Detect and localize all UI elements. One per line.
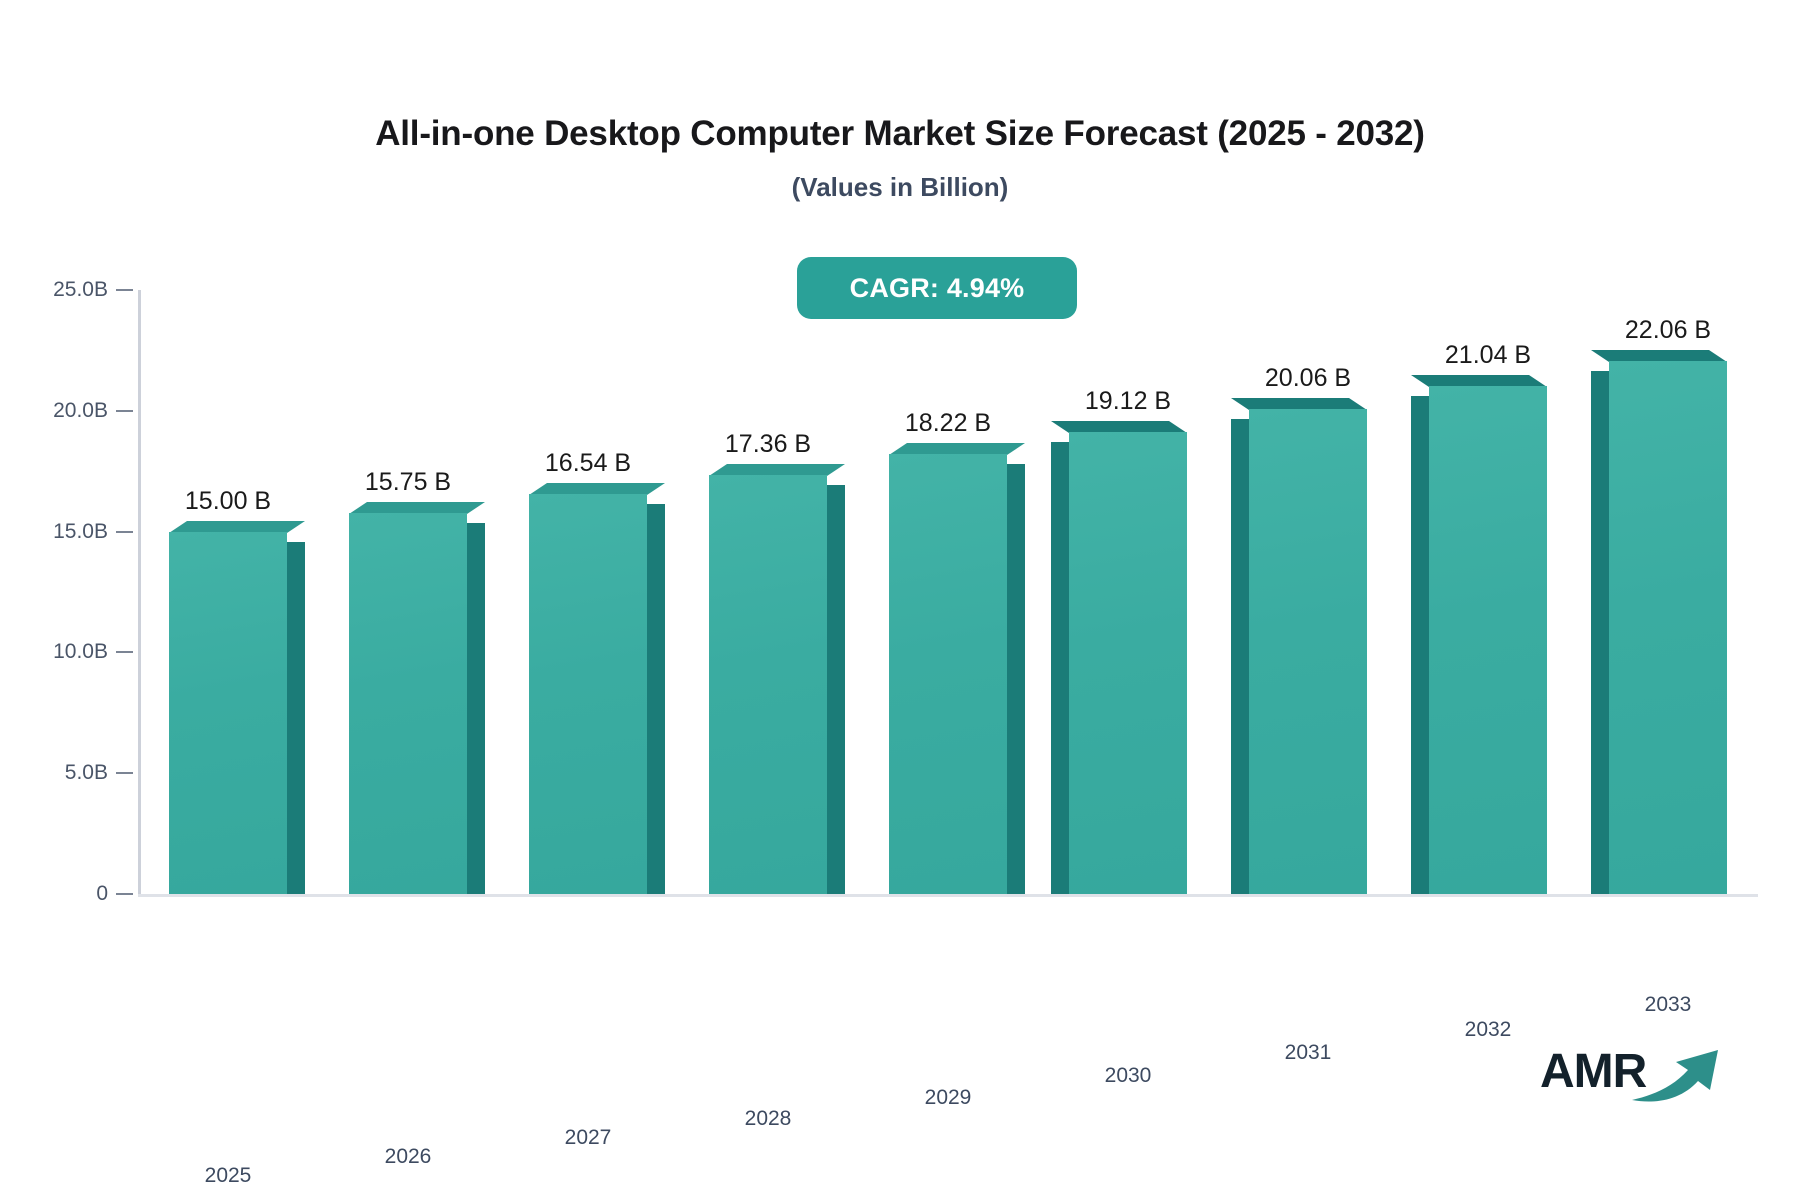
bar-front-face <box>1429 386 1547 894</box>
bar-side-panel <box>1007 464 1025 894</box>
bar-front-face <box>1249 409 1367 894</box>
bar-front-face <box>169 532 287 894</box>
bar-side-panel <box>647 504 665 894</box>
bar-front-face <box>709 475 827 894</box>
y-axis-tick-mark <box>116 651 133 653</box>
y-axis-tick-mark <box>116 893 133 895</box>
bar-value-label: 16.54 B <box>545 449 631 478</box>
bar-side-panel <box>1411 396 1429 894</box>
cagr-badge: CAGR: 4.94% <box>797 257 1077 319</box>
bar-side-panel <box>1231 419 1249 894</box>
bar-value-label: 21.04 B <box>1445 341 1531 370</box>
bar-value-label: 22.06 B <box>1625 316 1711 345</box>
y-axis-tick-label: 5.0B <box>16 761 108 785</box>
y-axis-tick-mark <box>116 410 133 412</box>
x-axis-tick-label: 2031 <box>1285 1041 1332 1065</box>
y-axis-tick-mark <box>116 772 133 774</box>
y-axis-tick-label: 20.0B <box>16 399 108 423</box>
amr-logo: AMR <box>1540 1040 1730 1110</box>
bar-side-panel <box>287 542 305 894</box>
bar-value-label: 17.36 B <box>725 430 811 459</box>
chart-title: All-in-one Desktop Computer Market Size … <box>0 114 1800 154</box>
bar-side-panel <box>467 523 485 894</box>
bar-value-label: 15.00 B <box>185 487 271 516</box>
x-axis-tick-label: 2032 <box>1465 1018 1512 1042</box>
x-axis-tick-label: 2028 <box>745 1107 792 1131</box>
bar-front-face <box>1069 432 1187 894</box>
bar: 17.36 B2028 <box>709 475 827 894</box>
bar: 15.75 B2026 <box>349 513 467 894</box>
y-axis-tick-label: 10.0B <box>16 640 108 664</box>
x-axis-tick-label: 2029 <box>925 1086 972 1110</box>
y-axis-tick-label: 0 <box>16 882 108 906</box>
x-axis-tick-label: 2030 <box>1105 1064 1152 1088</box>
y-axis-tick-label: 15.0B <box>16 520 108 544</box>
bar-side-panel <box>1591 371 1609 894</box>
bar-value-label: 18.22 B <box>905 409 991 438</box>
bar-front-face <box>349 513 467 894</box>
bar-side-panel <box>1051 442 1069 894</box>
bar-value-label: 20.06 B <box>1265 364 1351 393</box>
bar-front-face <box>1609 361 1727 894</box>
bar: 19.12 B2030 <box>1069 432 1187 894</box>
y-axis-tick-mark <box>116 531 133 533</box>
bar: 22.06 B2033 <box>1609 361 1727 894</box>
bar: 20.06 B2031 <box>1249 409 1367 894</box>
bar: 18.22 B2029 <box>889 454 1007 894</box>
chart-canvas: All-in-one Desktop Computer Market Size … <box>0 0 1800 1156</box>
x-axis-line <box>138 894 1758 897</box>
y-axis-line <box>138 290 141 897</box>
chart-subtitle: (Values in Billion) <box>0 172 1800 203</box>
x-axis-tick-label: 2026 <box>385 1145 432 1169</box>
bar: 15.00 B2025 <box>169 532 287 894</box>
y-axis-tick-mark <box>116 289 133 291</box>
bar-front-face <box>529 494 647 894</box>
plot-area: 25.0B20.0B15.0B10.0B5.0B0 15.00 B202515.… <box>138 290 1758 897</box>
bar: 16.54 B2027 <box>529 494 647 894</box>
bar-value-label: 15.75 B <box>365 468 451 497</box>
x-axis-tick-label: 2025 <box>205 1164 252 1188</box>
growth-arrow-icon <box>1630 1044 1725 1106</box>
bar-side-panel <box>827 485 845 894</box>
y-axis-tick-label: 25.0B <box>16 278 108 302</box>
bar-value-label: 19.12 B <box>1085 387 1171 416</box>
bar: 21.04 B2032 <box>1429 386 1547 894</box>
x-axis-tick-label: 2033 <box>1645 993 1692 1017</box>
x-axis-tick-label: 2027 <box>565 1126 612 1150</box>
bar-front-face <box>889 454 1007 894</box>
